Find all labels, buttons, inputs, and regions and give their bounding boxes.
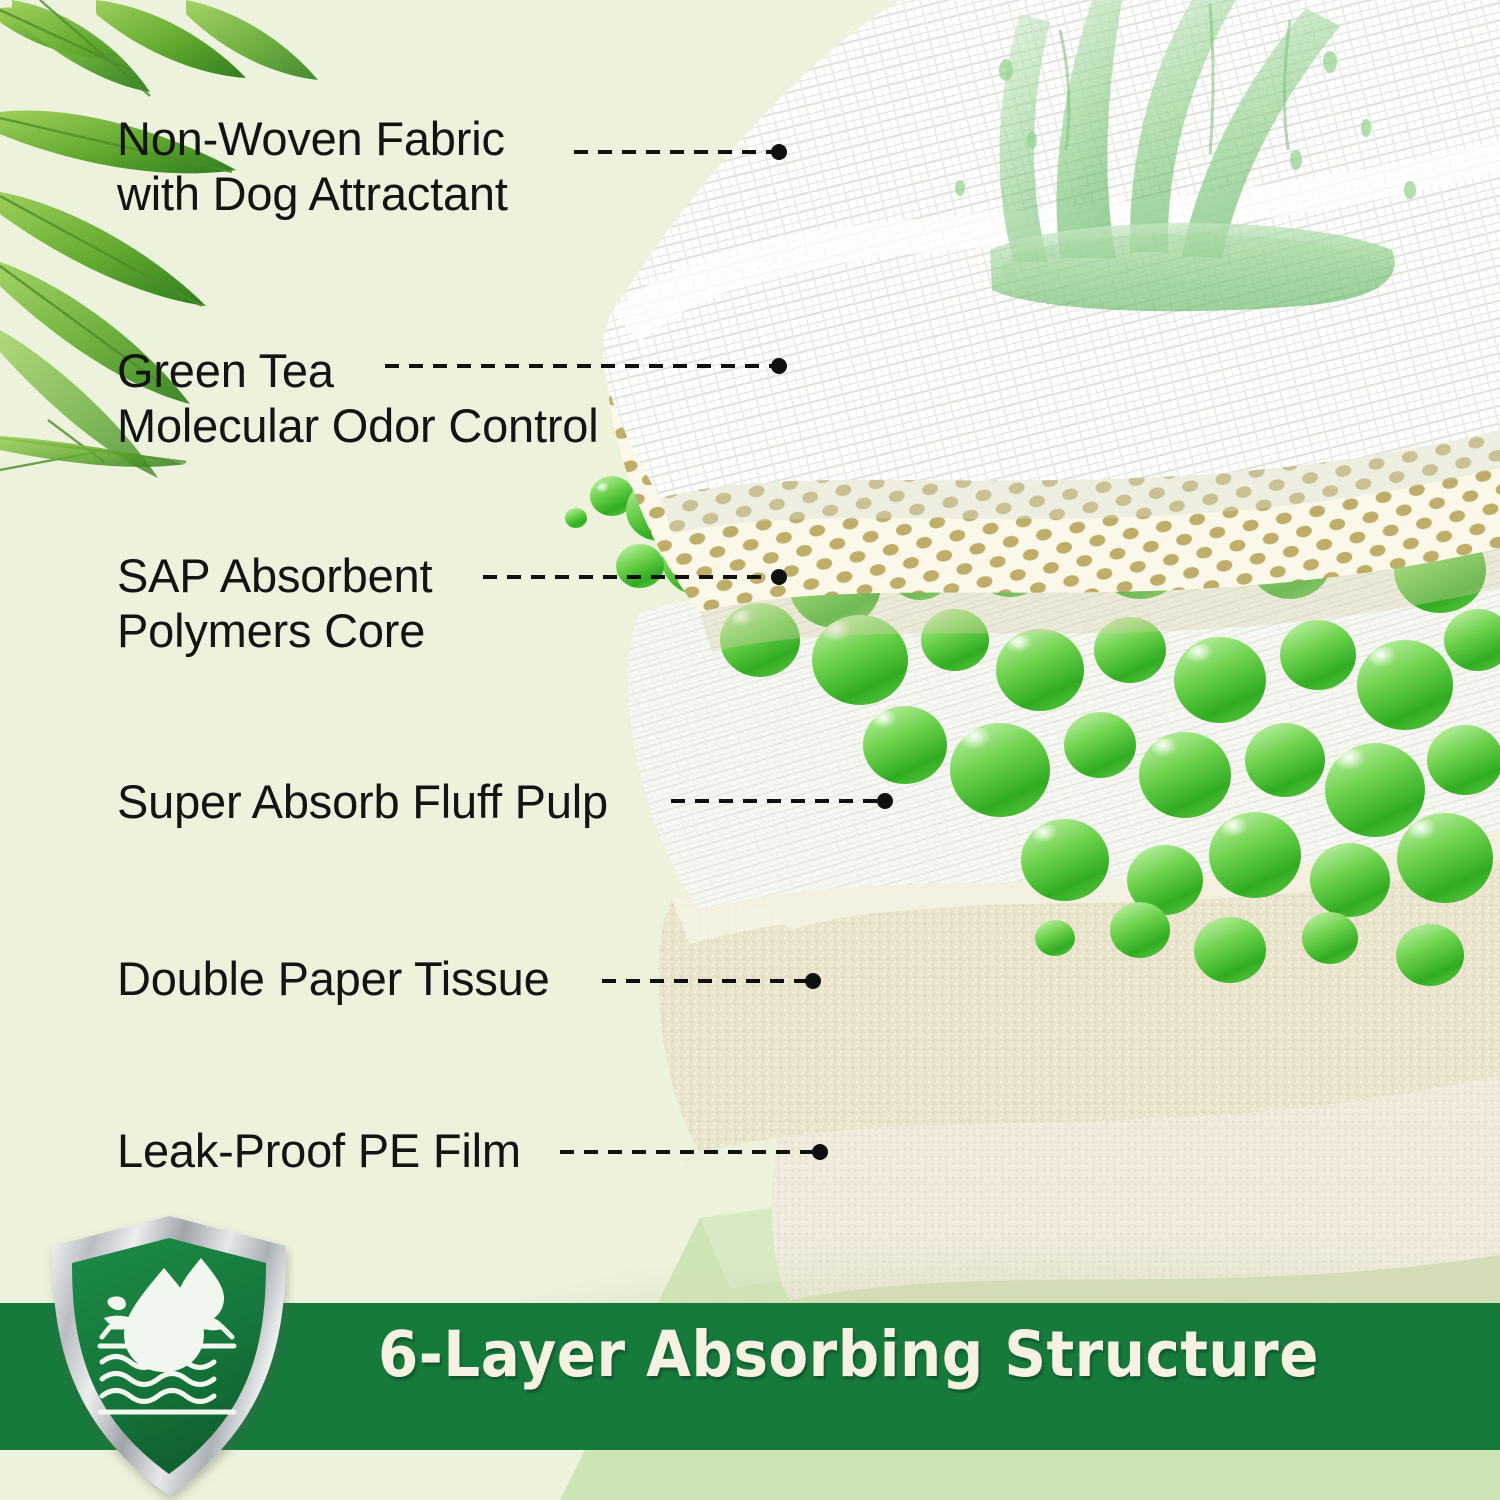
leader-line-double-paper-tissue [602, 979, 814, 983]
layer-label-super-absorb-fluff-pulp: Super Absorb Fluff Pulp [117, 775, 608, 830]
leader-dot [771, 144, 787, 160]
leader-dot [812, 1144, 828, 1160]
layer-label-non-woven-fabric: Non-Woven Fabric with Dog Attractant [117, 112, 508, 221]
leader-line-green-tea-odor-control [385, 364, 780, 368]
label-line: Polymers Core [117, 604, 432, 659]
leader-line-sap-absorbent-core [483, 575, 780, 579]
leader-line-leak-proof-pe-film [560, 1150, 821, 1154]
label-line: Green Tea [117, 344, 598, 399]
layer-label-green-tea-odor-control: Green Tea Molecular Odor Control [117, 344, 598, 453]
label-line: Non-Woven Fabric [117, 112, 508, 167]
label-line: Super Absorb Fluff Pulp [117, 775, 608, 830]
water-absorption-shield-icon [44, 1212, 294, 1500]
label-line: Molecular Odor Control [117, 399, 598, 454]
leader-dot [805, 973, 821, 989]
label-line: SAP Absorbent [117, 549, 432, 604]
label-line: Double Paper Tissue [117, 952, 550, 1007]
leader-line-non-woven-fabric [574, 150, 780, 154]
leader-dot [877, 793, 893, 809]
banner-title: 6-Layer Absorbing Structure [378, 1318, 1298, 1391]
leader-dot [771, 569, 787, 585]
infographic-root: Non-Woven Fabric with Dog Attractant Gre… [0, 0, 1500, 1500]
layer-label-sap-absorbent-core: SAP Absorbent Polymers Core [117, 549, 432, 658]
label-line: Leak-Proof PE Film [117, 1124, 521, 1179]
leader-line-super-absorb-fluff-pulp [671, 799, 886, 803]
label-line: with Dog Attractant [117, 167, 508, 222]
leader-dot [771, 358, 787, 374]
layer-label-double-paper-tissue: Double Paper Tissue [117, 952, 550, 1007]
layer-label-leak-proof-pe-film: Leak-Proof PE Film [117, 1124, 521, 1179]
